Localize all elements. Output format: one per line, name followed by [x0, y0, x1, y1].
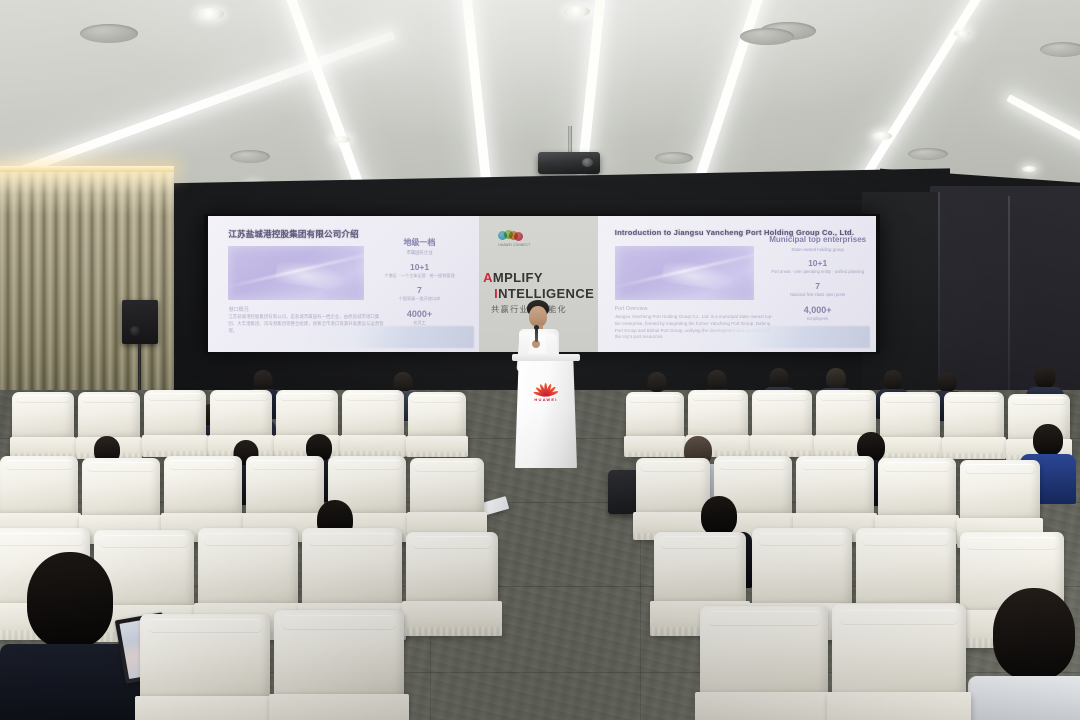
stat-label: Port areas · one operating entity · unif…	[768, 269, 868, 275]
ceiling-downlight	[872, 132, 892, 140]
chair-back	[816, 390, 876, 438]
chair-back	[752, 528, 852, 607]
stat-headline-label: 市属国有企业	[371, 250, 469, 256]
chair-back	[274, 610, 404, 699]
attendee-head	[1033, 424, 1063, 456]
attendee-torso	[0, 644, 140, 720]
chair	[410, 458, 484, 538]
microphone-head	[534, 325, 539, 330]
chair-skirt	[269, 694, 409, 720]
stat-label: 名员工	[371, 320, 469, 326]
chair-skirt	[402, 601, 501, 636]
ceiling-downlight	[332, 136, 350, 143]
chair-back	[796, 456, 874, 516]
attendee-head	[938, 372, 957, 392]
slide-stats-en: Municipal top enterprises State-owned ho…	[768, 235, 868, 322]
chair-skirt	[750, 435, 815, 457]
chair-back	[878, 458, 956, 518]
chair-skirt	[135, 696, 275, 720]
headline-line-1-rest: MPLIFY	[493, 270, 543, 285]
pa-loudspeaker	[122, 300, 158, 344]
chair-back	[960, 460, 1040, 522]
huawei-flower-icon	[537, 383, 555, 396]
chair	[832, 604, 966, 720]
stat-value: 4000+	[371, 309, 469, 319]
presenter-head	[529, 306, 547, 327]
curtain-wall	[0, 168, 174, 428]
ceiling-speaker	[740, 28, 794, 45]
chair	[700, 606, 828, 720]
chair-back	[832, 604, 966, 698]
chair-back	[688, 390, 748, 438]
stat-headline-label: State-owned holding group	[768, 247, 868, 252]
ceiling-speaker	[80, 24, 138, 43]
chair-back	[654, 532, 746, 605]
attendee-head	[701, 496, 737, 536]
chair-back	[408, 392, 466, 438]
chair-back	[944, 392, 1004, 440]
slide-image-caption-en: Port Overview	[615, 306, 648, 312]
ceiling-downlight	[1022, 166, 1037, 172]
stat-value: 10+1	[768, 258, 868, 268]
logo-caption: HUAWEI CONNECT	[498, 243, 530, 247]
chair	[406, 532, 498, 634]
stat-value: 7	[371, 285, 469, 295]
chair-back	[140, 614, 270, 700]
ceiling-speaker	[908, 148, 948, 160]
attendee-head	[1035, 366, 1056, 388]
slide-title-cn: 江苏盐城港控股集团有限公司介绍	[228, 228, 359, 240]
slide-image-en	[615, 246, 754, 300]
chair-back	[410, 458, 484, 516]
chair-skirt	[942, 437, 1007, 459]
headline-accent-a: A	[483, 270, 493, 285]
chair-skirt	[406, 436, 469, 458]
chair-back	[276, 390, 338, 438]
chair	[408, 392, 466, 456]
podium-huawei-logo: HUAWEI	[524, 383, 568, 402]
slide-footer-graphic	[306, 326, 474, 348]
chair-back	[406, 532, 498, 605]
stat-value: 10+1	[371, 262, 469, 272]
chair-back	[342, 390, 404, 438]
ceiling-speaker	[230, 150, 270, 163]
chair-back	[856, 528, 956, 607]
chair-back	[210, 390, 272, 438]
attendee-head	[254, 370, 273, 390]
conference-room-photo: 江苏盐城港控股集团有限公司介绍 港口概况 江苏盐城港控股集团有限公司，是盐城市属…	[0, 0, 1080, 720]
chair	[944, 392, 1004, 458]
slide-panel-right: Introduction to Jiangsu Yancheng Port Ho…	[598, 216, 876, 352]
chair-skirt	[695, 692, 833, 720]
projector-lens	[582, 158, 593, 167]
chair-back	[164, 456, 242, 516]
chair-skirt	[340, 435, 407, 457]
stat-label: 个港区 · 一个主体运营 · 统一规划管理	[371, 273, 469, 279]
slide-panel-left: 江苏盐城港控股集团有限公司介绍 港口概况 江苏盐城港控股集团有限公司，是盐城市属…	[208, 216, 479, 352]
chair-back	[198, 528, 298, 607]
ceiling-downlight	[954, 30, 970, 37]
lectern	[515, 358, 577, 468]
chair-back	[752, 390, 812, 438]
stat-value: 7	[768, 281, 868, 291]
lectern-top	[512, 354, 580, 361]
chair	[12, 392, 74, 458]
chair-back	[82, 458, 160, 518]
chair	[752, 390, 812, 456]
attendee-head	[993, 588, 1075, 680]
chair-back	[0, 456, 78, 516]
stat-value: 4,000+	[768, 305, 868, 315]
handheld-microphone	[535, 329, 538, 342]
stat-headline: 地级一档	[371, 238, 469, 248]
cove-light	[0, 166, 174, 172]
attendee-head	[826, 368, 846, 389]
chair	[144, 390, 206, 456]
ceiling-downlight	[564, 6, 590, 17]
attendee-head	[394, 372, 413, 392]
attendee-head	[27, 552, 113, 648]
attendee-head	[884, 370, 903, 390]
attendee-torso	[968, 676, 1080, 720]
chair-skirt	[142, 435, 209, 457]
slide-stats-cn: 地级一档 市属国有企业 10+1 个港区 · 一个主体运营 · 统一规划管理 7…	[371, 238, 469, 326]
slide-image-cn	[228, 246, 364, 300]
chair-back	[144, 390, 206, 438]
ceiling-speaker	[1040, 42, 1080, 57]
stat-label: 个国家级一类开放口岸	[371, 296, 469, 302]
chair-skirt	[827, 692, 972, 720]
chair-back	[78, 392, 140, 440]
logo-dot-red	[514, 232, 523, 241]
curtain-cove-glow	[0, 168, 174, 216]
attendee-head	[708, 370, 727, 390]
attendee-foreground	[968, 588, 1080, 720]
chair-back	[700, 606, 828, 697]
headline-line-1: AMPLIFY	[483, 270, 594, 285]
attendee-head	[770, 368, 789, 388]
slide-image-caption-cn: 港口概况	[228, 306, 248, 313]
ceiling-downlight	[196, 8, 224, 20]
logo-dots-icon	[498, 230, 524, 242]
chair	[274, 610, 404, 720]
chair	[342, 390, 404, 456]
attendee-head	[648, 372, 667, 392]
podium-brand-text: HUAWEI	[524, 397, 568, 402]
projector-mount-pole	[568, 126, 572, 154]
huawei-connect-logo: HUAWEI CONNECT	[498, 230, 528, 248]
slide-footer-graphic	[698, 326, 870, 348]
chair-back	[12, 392, 74, 440]
ceiling-speaker	[655, 152, 693, 164]
chair-back	[626, 392, 684, 438]
chair	[140, 614, 270, 720]
stat-label: National first-class open ports	[768, 292, 868, 298]
stat-headline: Municipal top enterprises	[768, 235, 868, 245]
chair-back	[302, 528, 402, 607]
stat-label: Employees	[768, 316, 868, 322]
